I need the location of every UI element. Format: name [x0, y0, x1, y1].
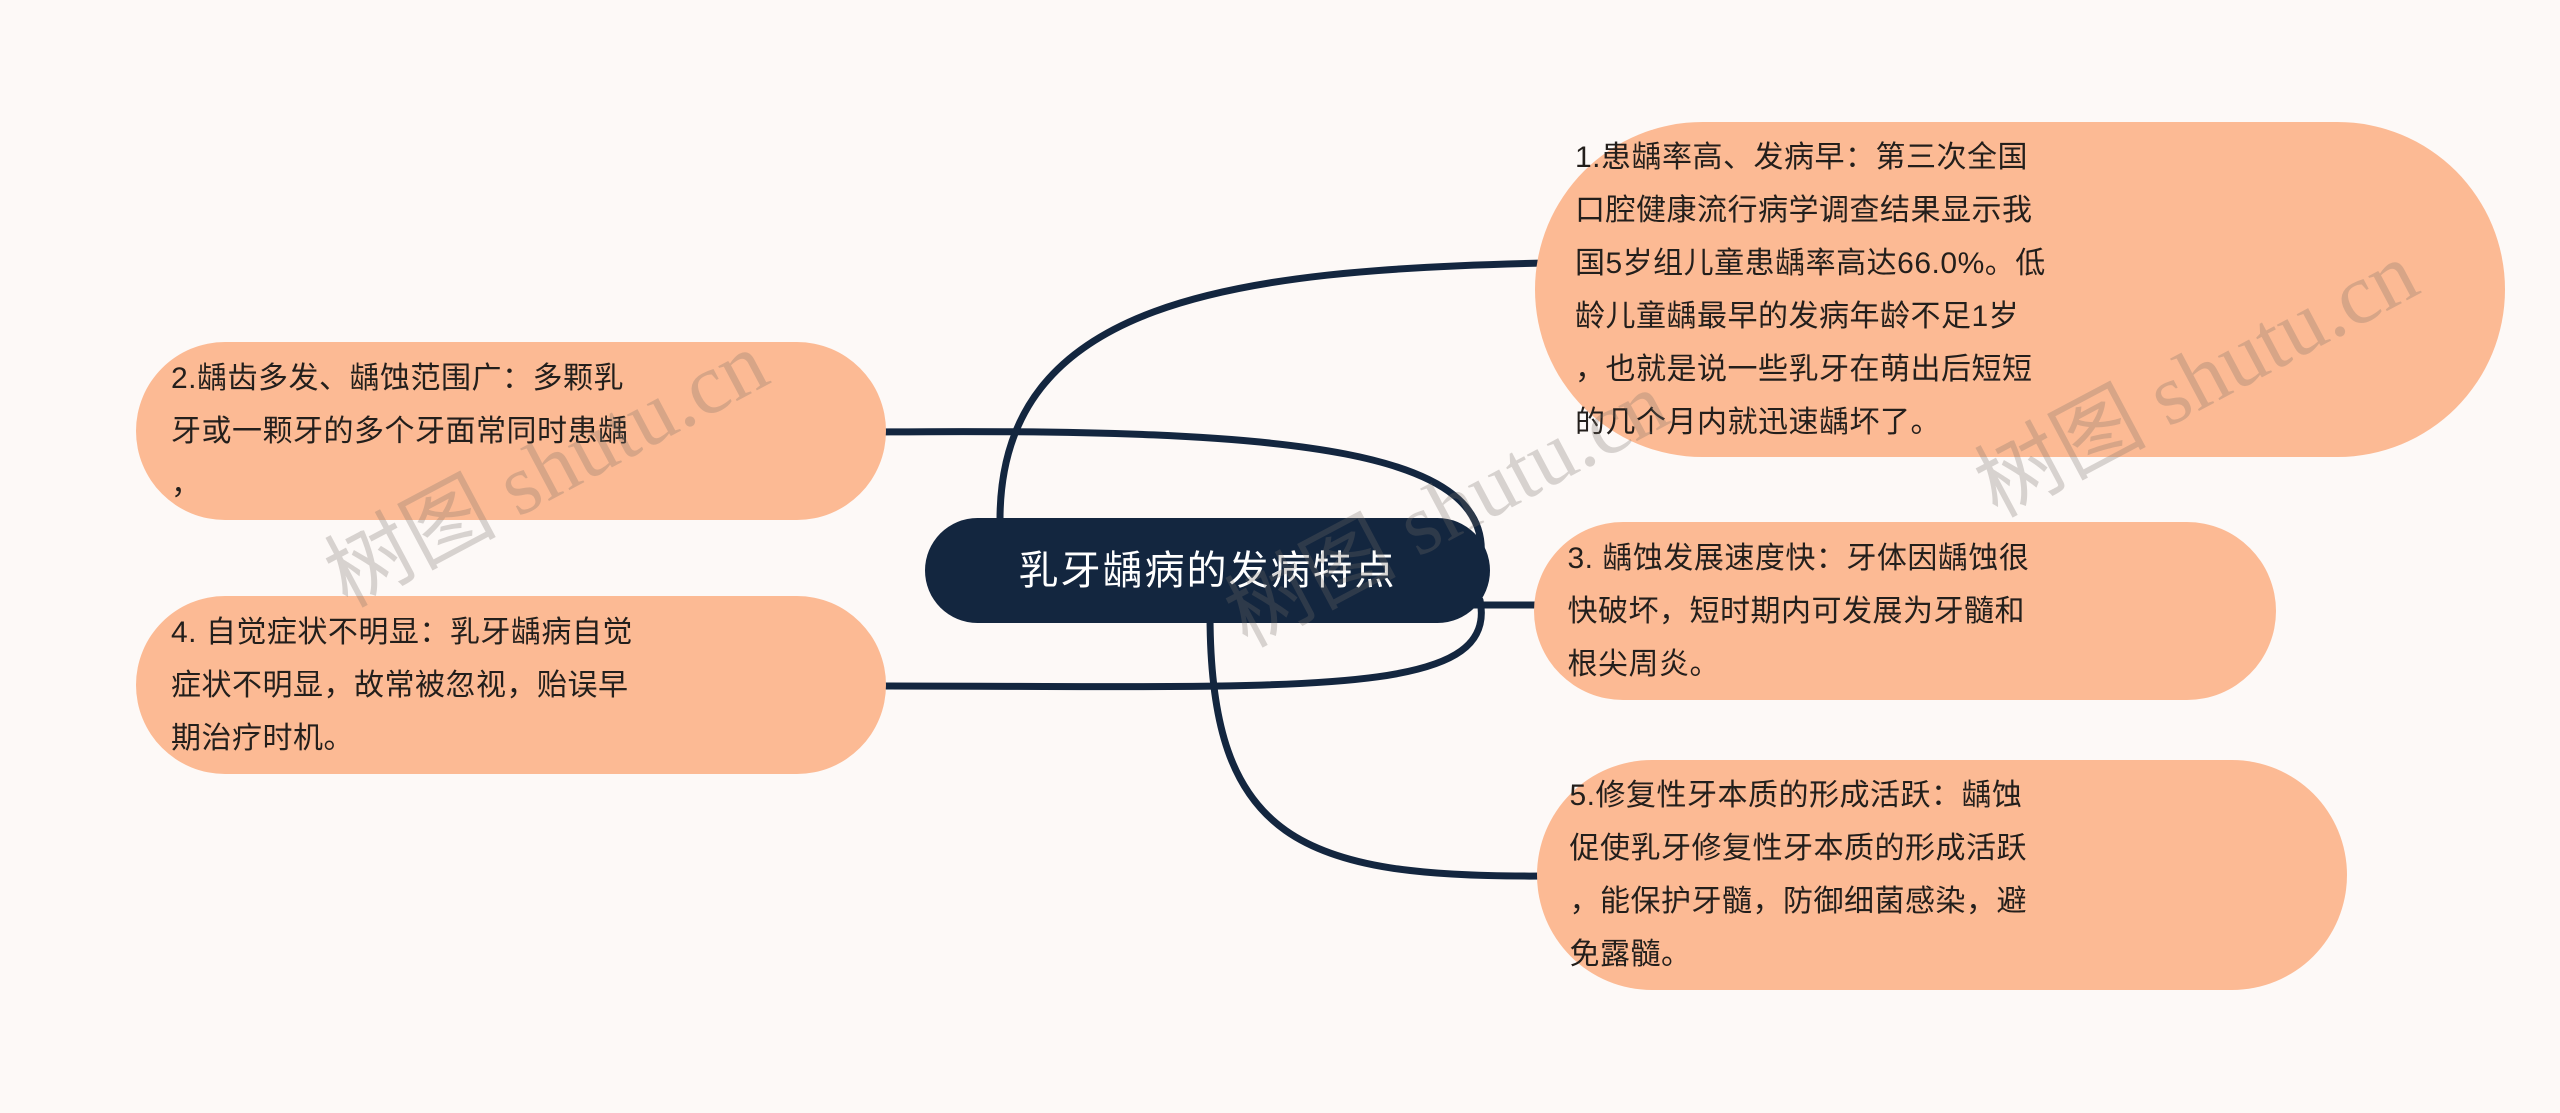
connector-central-to-branch-1	[1000, 263, 1545, 520]
branch-node-1[interactable]: 1.患龋率高、发病早：第三次全国 口腔健康流行病学调查结果显示我 国5岁组儿童患…	[1535, 122, 2505, 457]
branch-node-2-label: 2.龋齿多发、龋蚀范围广：多颗乳 牙或一颗牙的多个牙面常同时患龋 ，	[163, 352, 859, 511]
branch-node-4-label: 4. 自觉症状不明显：乳牙龋病自觉 症状不明显，故常被忽视，贻误早 期治疗时机。	[163, 606, 859, 765]
central-node[interactable]: 乳牙龋病的发病特点	[925, 518, 1490, 623]
branch-node-3-label: 3. 龋蚀发展速度快：牙体因龋蚀很 快破坏，短时期内可发展为牙髓和 根尖周炎。	[1560, 532, 2251, 691]
central-node-label: 乳牙龋病的发病特点	[1019, 547, 1397, 595]
branch-node-5[interactable]: 5.修复性牙本质的形成活跃：龋蚀 促使乳牙修复性牙本质的形成活跃 ，能保护牙髓，…	[1537, 760, 2347, 990]
branch-node-3[interactable]: 3. 龋蚀发展速度快：牙体因龋蚀很 快破坏，短时期内可发展为牙髓和 根尖周炎。	[1534, 522, 2276, 700]
branch-node-1-label: 1.患龋率高、发病早：第三次全国 口腔健康流行病学调查结果显示我 国5岁组儿童患…	[1567, 131, 2473, 449]
branch-node-4[interactable]: 4. 自觉症状不明显：乳牙龋病自觉 症状不明显，故常被忽视，贻误早 期治疗时机。	[136, 596, 886, 774]
mindmap-canvas: 树图 shutu.cn 树图 shutu.cn 树图 shutu.cn 1.患龋…	[0, 0, 2560, 1113]
branch-node-2[interactable]: 2.龋齿多发、龋蚀范围广：多颗乳 牙或一颗牙的多个牙面常同时患龋 ，	[136, 342, 886, 520]
connector-central-to-branch-5	[1210, 614, 1545, 876]
branch-node-5-label: 5.修复性牙本质的形成活跃：龋蚀 促使乳牙修复性牙本质的形成活跃 ，能保护牙髓，…	[1562, 769, 2323, 981]
